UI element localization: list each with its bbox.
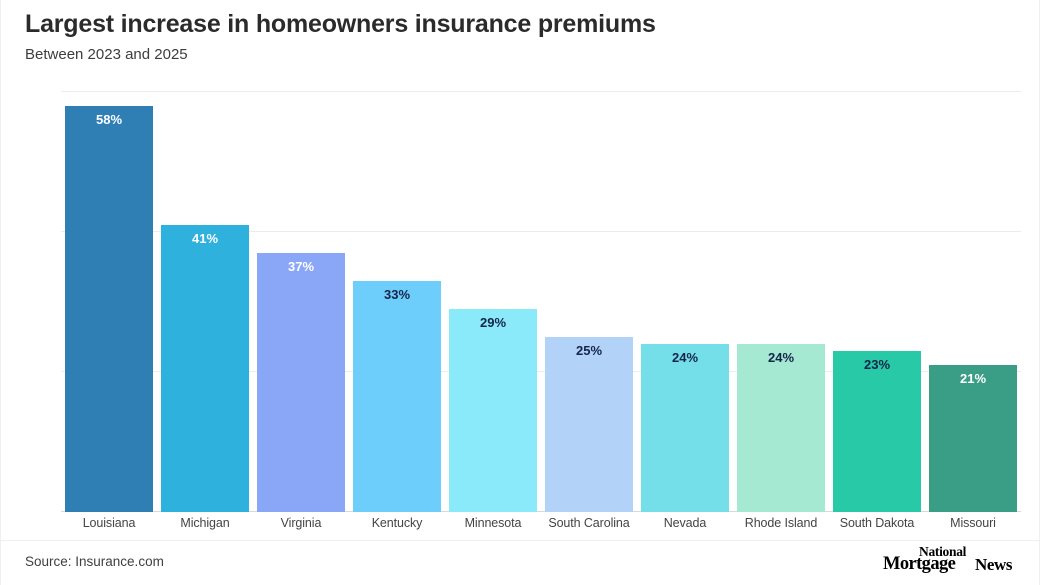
bar[interactable]: 23% <box>833 351 921 512</box>
bar-slot: 33% <box>349 92 445 512</box>
bar-slot: 25% <box>541 92 637 512</box>
x-axis-label: Michigan <box>157 516 253 530</box>
logo-line-mortgage: Mortgage <box>883 555 955 574</box>
plot-area: 0%20%40%60% 58%41%37%33%29%25%24%24%23%2… <box>1 82 1040 522</box>
x-axis-label: Missouri <box>925 516 1021 530</box>
bar-value-label: 29% <box>449 316 537 329</box>
bar[interactable]: 37% <box>257 253 345 512</box>
bar-value-label: 23% <box>833 358 921 371</box>
bar-value-label: 37% <box>257 260 345 273</box>
bar-slot: 23% <box>829 92 925 512</box>
chart-subtitle: Between 2023 and 2025 <box>25 46 1019 63</box>
bar[interactable]: 25% <box>545 337 633 512</box>
x-axis-label: South Carolina <box>541 516 637 530</box>
x-axis-label: Nevada <box>637 516 733 530</box>
bar-slot: 41% <box>157 92 253 512</box>
x-axis-labels: LouisianaMichiganVirginiaKentuckyMinneso… <box>61 516 1021 530</box>
x-axis-label: Louisiana <box>61 516 157 530</box>
bar-value-label: 25% <box>545 344 633 357</box>
bar-slot: 29% <box>445 92 541 512</box>
bar[interactable]: 29% <box>449 309 537 512</box>
bar-slot: 37% <box>253 92 349 512</box>
logo-line-news: News <box>975 556 1012 573</box>
national-mortgage-news-logo: National Mortgage News <box>881 544 1021 578</box>
source-note: Source: Insurance.com <box>25 554 164 569</box>
x-axis-label: South Dakota <box>829 516 925 530</box>
bar[interactable]: 24% <box>737 344 825 512</box>
bar[interactable]: 41% <box>161 225 249 512</box>
bar-slot: 24% <box>733 92 829 512</box>
bar-slot: 58% <box>61 92 157 512</box>
x-axis-label: Minnesota <box>445 516 541 530</box>
chart-figure: Largest increase in homeowners insurance… <box>0 0 1040 585</box>
bar-value-label: 24% <box>641 351 729 364</box>
footer-divider <box>1 540 1040 541</box>
bar-value-label: 58% <box>65 113 153 126</box>
x-axis-label: Rhode Island <box>733 516 829 530</box>
page-title: Largest increase in homeowners insurance… <box>25 10 1019 39</box>
bar[interactable]: 58% <box>65 106 153 512</box>
chart-header: Largest increase in homeowners insurance… <box>25 10 1019 63</box>
x-axis-label: Virginia <box>253 516 349 530</box>
bar-slot: 21% <box>925 92 1021 512</box>
bar-value-label: 24% <box>737 351 825 364</box>
plot-canvas: 0%20%40%60% 58%41%37%33%29%25%24%24%23%2… <box>61 92 1021 512</box>
bar-value-label: 21% <box>929 372 1017 385</box>
bar[interactable]: 33% <box>353 281 441 512</box>
bar[interactable]: 24% <box>641 344 729 512</box>
bar-value-label: 41% <box>161 232 249 245</box>
x-axis-label: Kentucky <box>349 516 445 530</box>
bar[interactable]: 21% <box>929 365 1017 512</box>
bar-value-label: 33% <box>353 288 441 301</box>
bar-slot: 24% <box>637 92 733 512</box>
bars-group: 58%41%37%33%29%25%24%24%23%21% <box>61 92 1021 512</box>
